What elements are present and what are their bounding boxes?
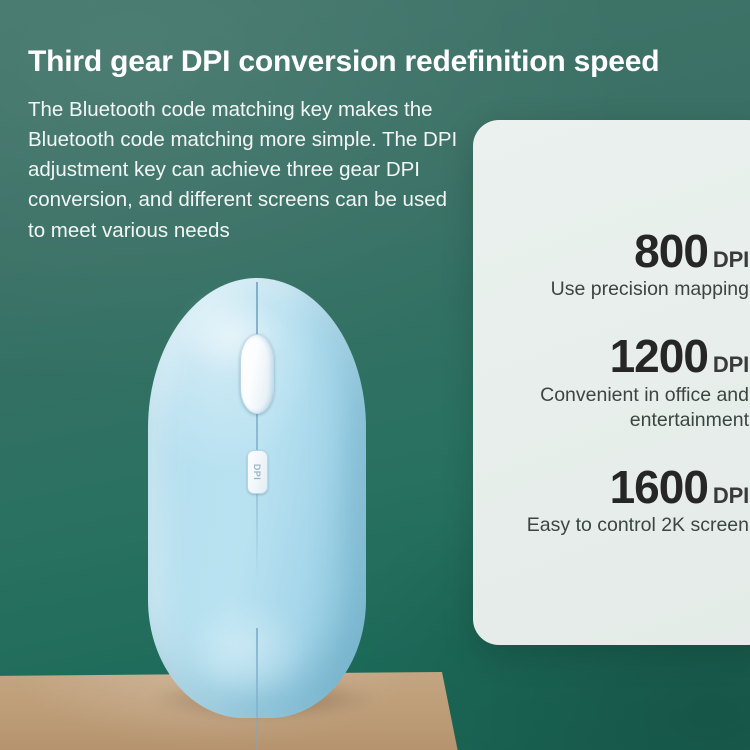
spec-description: Convenient in office and entertainment [491,383,749,433]
spec-value-row: 1600 DPI [491,463,749,511]
spec-unit: DPI [713,483,749,509]
spec-value-row: 800 DPI [491,227,749,275]
wireless-mouse-photo: DPI [148,278,366,718]
spec-unit: DPI [713,247,749,273]
dpi-adjustment-button: DPI [247,450,268,494]
scroll-wheel [240,334,274,414]
spec-description: Use precision mapping [491,277,749,302]
dpi-button-label: DPI [252,464,262,480]
spec-number: 1200 [610,332,708,380]
spec-number: 800 [634,227,708,275]
spec-number: 1600 [610,463,708,511]
spec-item-800: 800 DPI Use precision mapping [491,227,749,302]
spec-unit: DPI [713,352,749,378]
page-description: The Bluetooth code matching key makes th… [28,95,458,247]
mouse-bottom-highlight [170,558,340,708]
mouse-center-seam-lower [256,628,258,750]
mouse-top-highlight [164,286,314,406]
spec-description: Easy to control 2K screen [491,513,749,538]
spec-item-1600: 1600 DPI Easy to control 2K screen [491,463,749,538]
page-title: Third gear DPI conversion redefinition s… [28,44,728,79]
spec-item-1200: 1200 DPI Convenient in office and entert… [491,332,749,432]
dpi-spec-card: 800 DPI Use precision mapping 1200 DPI C… [473,120,750,645]
mouse-center-seam-upper [256,282,258,582]
product-poster: Third gear DPI conversion redefinition s… [0,0,750,750]
spec-value-row: 1200 DPI [491,332,749,380]
